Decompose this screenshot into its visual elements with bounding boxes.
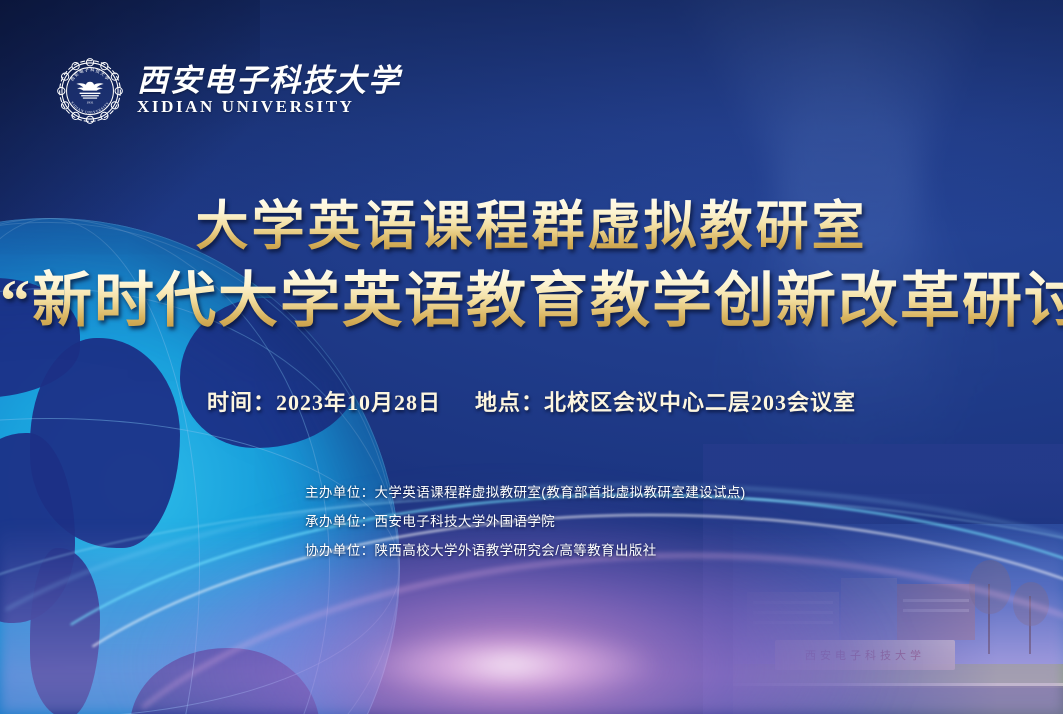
- university-logo: 1931 西安电子科技大学 XIDIAN UNIVERSITY 西安电子科技大学…: [57, 58, 401, 124]
- place-value: 北校区会议中心二层203会议室: [544, 390, 856, 415]
- event-meta-line: 时间：2023年10月28日地点：北校区会议中心二层203会议室: [0, 385, 1063, 417]
- title-line-2: “新时代大学英语教育教学创新改革研讨会”: [0, 265, 1063, 338]
- time-value: 2023年10月28日: [276, 390, 441, 415]
- poster-title-block: 大学英语课程群虚拟教研室 “新时代大学英语教育教学创新改革研讨会”: [0, 196, 1063, 338]
- organizer-value: 陕西高校大学外语教学研究会/高等教育出版社: [375, 543, 657, 558]
- light-ribbon-effect: [0, 414, 1063, 714]
- title-line-1: 大学英语课程群虚拟教研室: [0, 196, 1063, 259]
- place-label: 地点：: [475, 390, 544, 415]
- organizer-label: 承办单位：: [305, 514, 375, 529]
- organizer-value: 西安电子科技大学外国语学院: [375, 514, 556, 529]
- organizer-row: 承办单位：西安电子科技大学外国语学院: [305, 510, 746, 530]
- time-label: 时间：: [207, 390, 276, 415]
- organizer-list: 主办单位：大学英语课程群虚拟教研室(教育部首批虚拟教研室建设试点) 承办单位：西…: [305, 481, 746, 559]
- xidian-university-crest-icon: 1931 西安电子科技大学 XIDIAN UNIVERSITY: [57, 58, 123, 124]
- organizer-label: 主办单位：: [305, 485, 375, 500]
- organizer-row: 协办单位：陕西高校大学外语教学研究会/高等教育出版社: [305, 539, 746, 559]
- organizer-value: 大学英语课程群虚拟教研室(教育部首批虚拟教研室建设试点): [375, 485, 746, 500]
- logo-english-name: XIDIAN UNIVERSITY: [137, 98, 401, 117]
- svg-text:1931: 1931: [86, 100, 93, 104]
- conference-poster: 西安电子科技大学: [0, 0, 1063, 714]
- logo-chinese-name: 西安电子科技大学: [137, 65, 401, 98]
- organizer-label: 协办单位：: [305, 543, 375, 558]
- organizer-row: 主办单位：大学英语课程群虚拟教研室(教育部首批虚拟教研室建设试点): [305, 481, 746, 501]
